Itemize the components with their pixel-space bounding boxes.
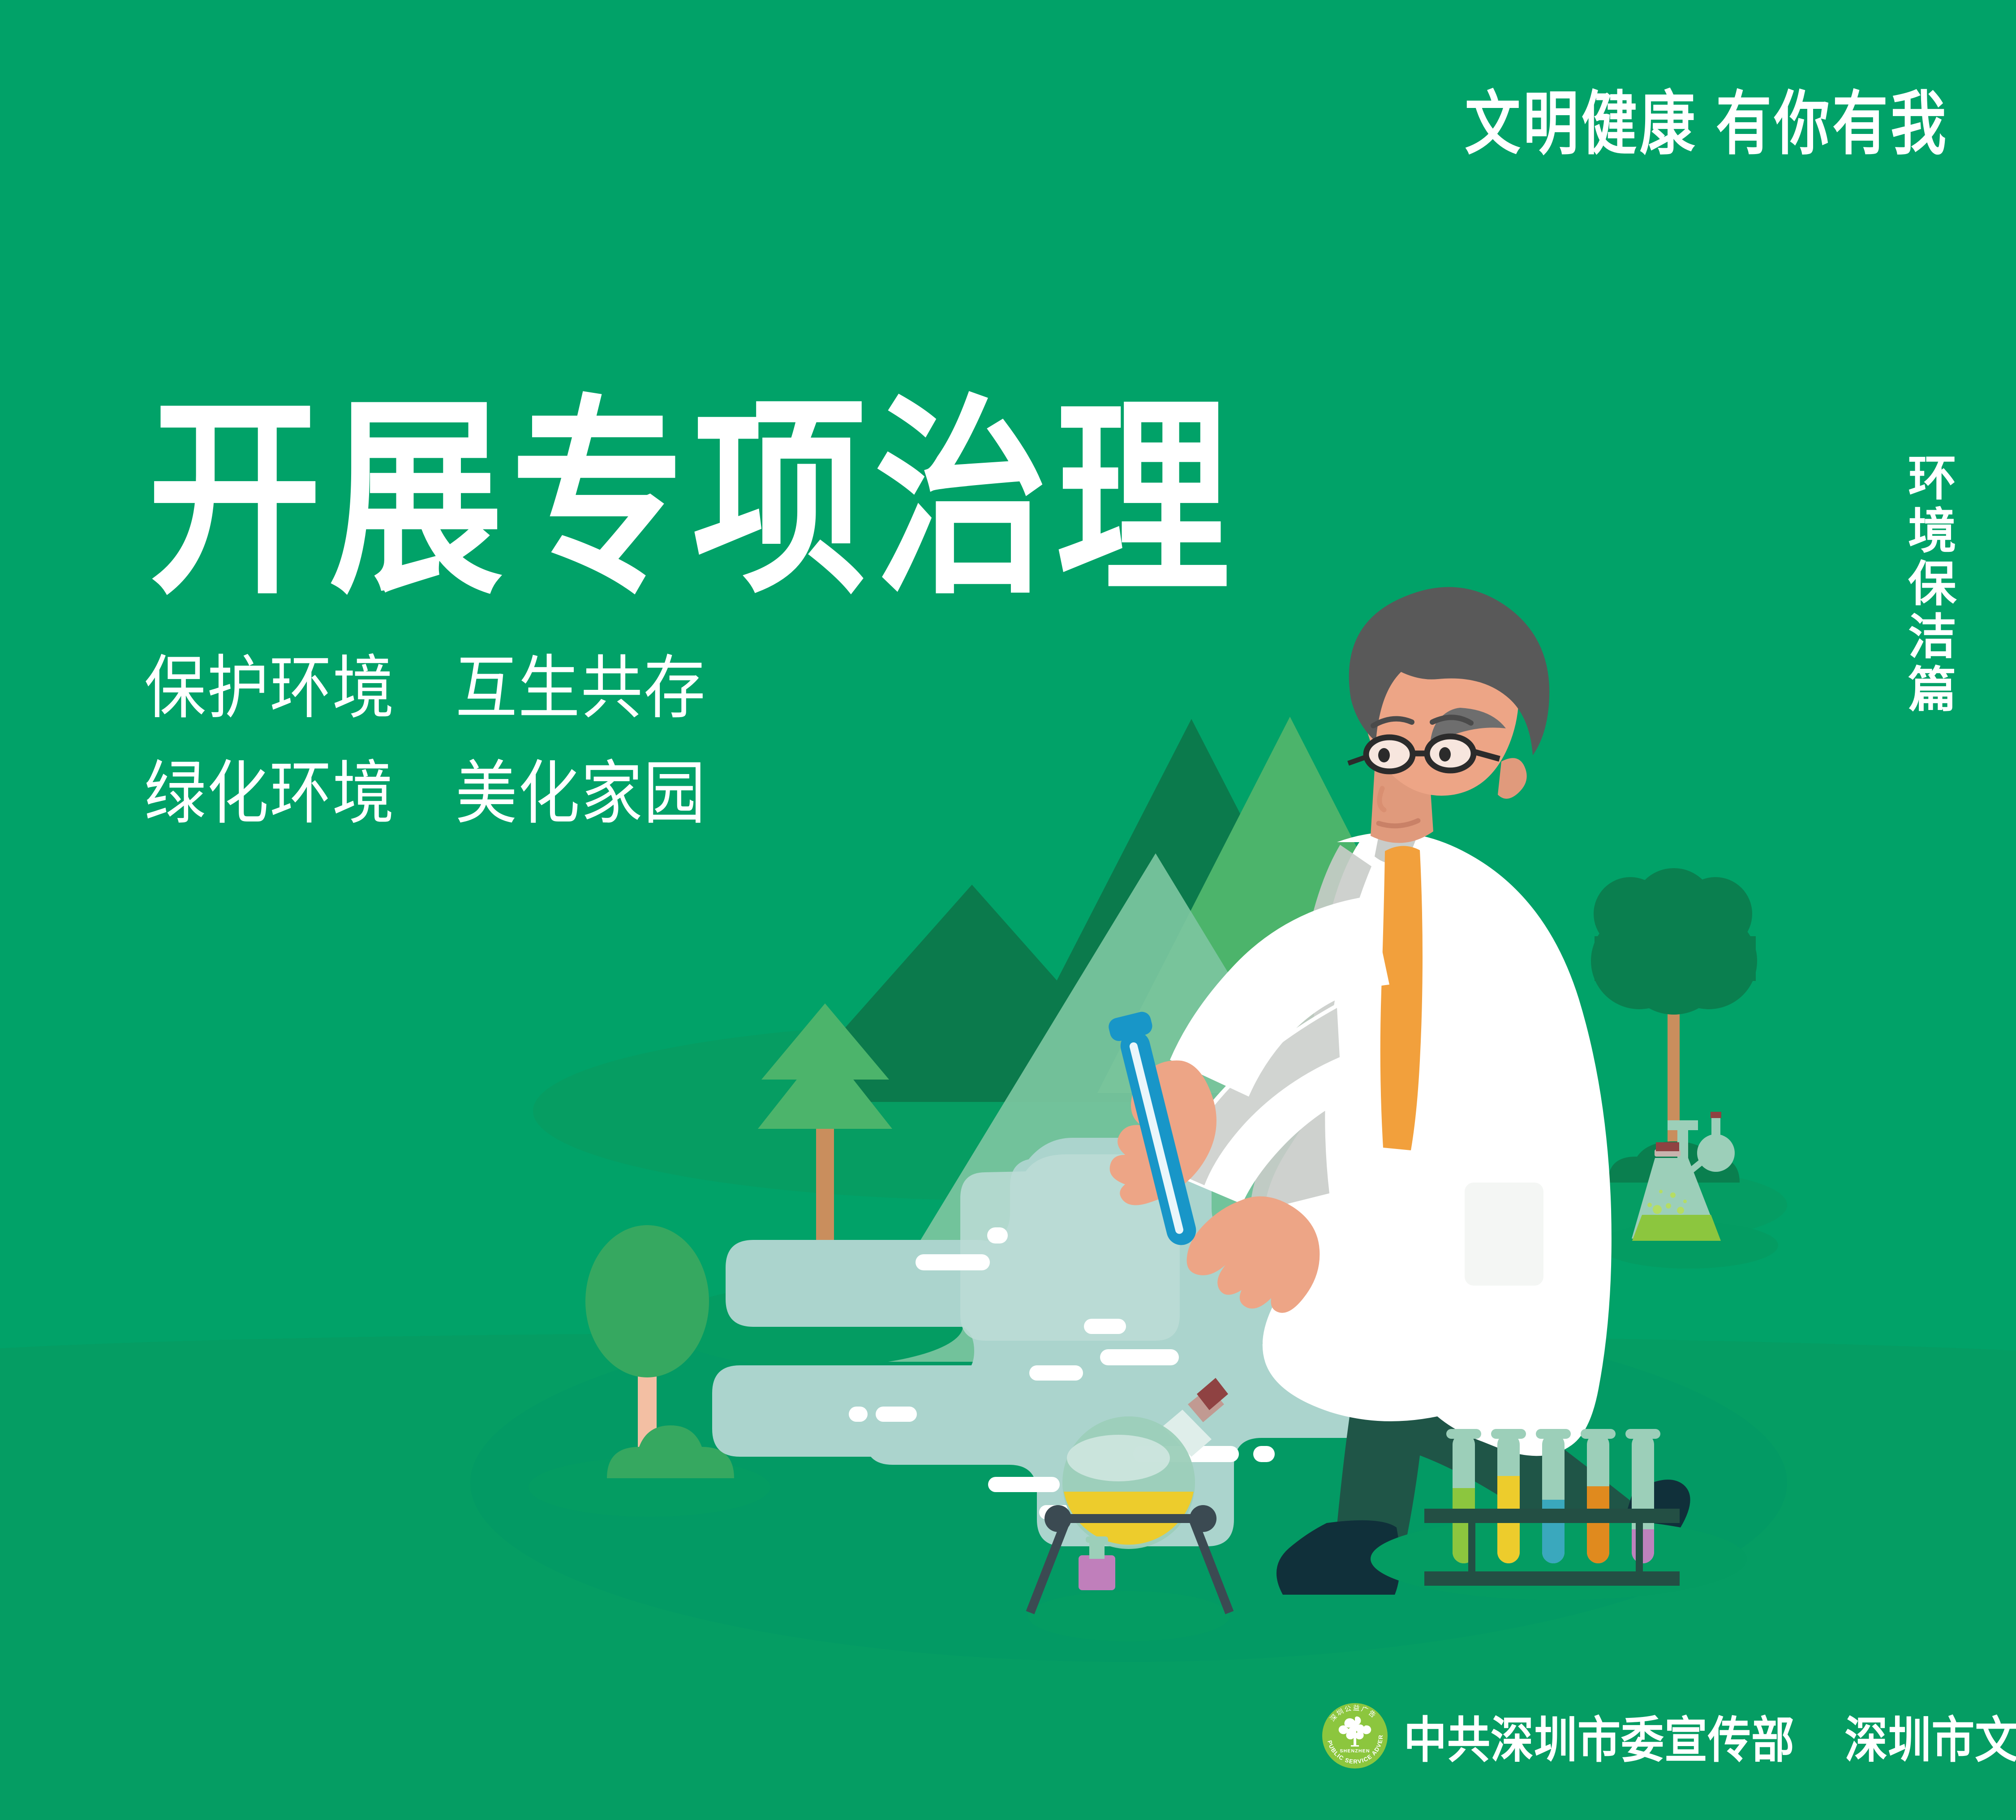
scientist-hair-highlight (1430, 708, 1506, 749)
flask-glass-highlight (1067, 1435, 1170, 1481)
cloud-tree-base-bush (1630, 1141, 1718, 1183)
illustration-scene (0, 0, 2016, 1820)
rack-top-bar (1424, 1509, 1680, 1523)
scientist-mouth (1379, 821, 1418, 826)
side-arm-neck (1711, 1115, 1720, 1143)
scientist-eyebrow-left (1373, 719, 1412, 726)
erlenmeyer-side-arm (1681, 1158, 1707, 1179)
flask-ground-shadow (1028, 1591, 1229, 1641)
scientist-figure (1107, 587, 1690, 1595)
rack-leg-right (1636, 1521, 1643, 1573)
cloud-tree-base-bush-left (1608, 1157, 1664, 1183)
rack-tubes (1446, 1429, 1660, 1563)
erlenmeyer-neck-collar (1655, 1149, 1681, 1157)
pine-tree-trunk (816, 1124, 834, 1326)
water-highlights (849, 1227, 1275, 1519)
round-tree-canopy (585, 1225, 709, 1377)
round-tree-ground-shadow (529, 1458, 770, 1517)
tripod-knob-left (1045, 1505, 1071, 1532)
rack-leg-left (1468, 1521, 1475, 1573)
mountain-dark-left (779, 885, 1165, 1102)
scientist-face (1361, 596, 1518, 796)
scientist-coat-lapel-shadow (1251, 845, 1371, 1213)
cloud-tree-base-bush-right (1684, 1157, 1740, 1183)
scientist-right-sleeve-shadow (1176, 1008, 1340, 1185)
hill-shadow-ellipse (533, 1021, 1483, 1200)
subtitle-line-1-a: 保护环境 (144, 650, 395, 727)
erlenmeyer-flask-apparatus (1599, 1112, 1778, 1269)
flask-bulb (1062, 1416, 1195, 1549)
rack-bottom-bar (1424, 1571, 1680, 1586)
erlenmeyer-liquid (1632, 1215, 1721, 1241)
scientist-right-sleeve (1170, 1003, 1370, 1204)
alcohol-burner (1079, 1536, 1115, 1590)
erlenmeyer-cork (1656, 1142, 1679, 1151)
scientist-right-hand (1187, 1196, 1320, 1313)
scientist-glasses (1348, 736, 1500, 771)
scientist-front-shoe (1277, 1520, 1400, 1595)
test-tube-lip (1107, 1010, 1154, 1043)
erlenmeyer-ground-shadow (1599, 1222, 1778, 1269)
scientist-ear (1498, 758, 1527, 799)
erlenmeyer-bubbles (1647, 1190, 1687, 1214)
scientist-eye-right (1439, 747, 1451, 762)
header-slogan: 文明健康 有你有我 (1465, 90, 1949, 159)
scientist-neck (1371, 756, 1433, 843)
side-arm-bulb (1697, 1134, 1735, 1172)
round-tree-base-bush (607, 1425, 734, 1478)
scientist-eyebrow-right (1432, 717, 1471, 723)
scientist-back-shoe (1619, 1480, 1690, 1570)
scientist-back-leg (1382, 1380, 1642, 1559)
scientist-tie (1380, 846, 1423, 1150)
mountain-dark-center (994, 719, 1388, 1102)
subtitle-line-1: 保护环境 互生共存 (144, 636, 706, 741)
background-fill (0, 0, 2016, 1820)
vertical-section-tag: 环境保洁篇 (1899, 452, 1957, 717)
scientist-collar (1375, 812, 1425, 863)
subtitle-line-2-a: 绿化环境 (144, 755, 395, 832)
water-spill (712, 1138, 1393, 1546)
pine-tree-top-tier (761, 1003, 889, 1080)
scientist-lab-coat (1263, 832, 1612, 1456)
scientist-coat-pocket (1465, 1183, 1543, 1286)
flask-neck (1162, 1378, 1228, 1457)
subtitle-line-2-b: 美化家园 (456, 755, 706, 832)
scientist-left-sleeve (1170, 896, 1389, 1097)
page-title: 开展专项治理 (148, 394, 1238, 606)
poster-canvas: 文明健康 有你有我 开展专项治理 保护环境 互生共存 绿化环境 美化家园 环境保… (0, 0, 2016, 1820)
mountain-light-right (1097, 717, 1483, 1093)
scientist-eye-left (1378, 748, 1390, 762)
tripod-knob-right (1190, 1505, 1216, 1532)
round-bottom-flask-apparatus (1028, 1378, 1229, 1641)
mountain-pale-front (847, 853, 1465, 1362)
cloud-tree-ground-shadow (1527, 1170, 1787, 1240)
subtitle-line-1-b: 互生共存 (456, 650, 706, 727)
scientist-front-leg (1304, 1214, 1439, 1544)
ground-ellipse (470, 1304, 1787, 1662)
cloud-tree-trunk (1668, 981, 1680, 1156)
test-tube-body (1118, 1028, 1199, 1248)
subtitle-line-2: 绿化环境 美化家园 (144, 741, 706, 847)
footer-credit-b: 深圳市文明办 (1844, 1713, 2016, 1768)
flask-liquid (1064, 1492, 1194, 1545)
footer-credit-a: 中共深圳市委宣传部 (1404, 1713, 1795, 1768)
test-tube-rack (1371, 1429, 1747, 1600)
test-tube-highlight (1129, 1041, 1184, 1235)
shenzhen-public-service-advertising-logo: 深圳公益广告 PUBLIC SERVICE ADVERTISING SHENZH… (1321, 1702, 1388, 1769)
subtitle-block: 保护环境 互生共存 绿化环境 美化家园 (144, 636, 706, 847)
footer-credit: 中共深圳市委宣传部 深圳市文明办 (1404, 1700, 2016, 1772)
logo-city-name: SHENZHEN (1340, 1748, 1370, 1754)
scientist-left-hand (1110, 1060, 1216, 1205)
pine-tree-bottom-tier (758, 1044, 892, 1129)
held-test-tube (1107, 1010, 1206, 1250)
pine-tree-ground-shadow (667, 1285, 963, 1367)
side-arm-cork (1711, 1112, 1721, 1118)
tripod-stand (1030, 1519, 1229, 1613)
erlenmeyer-body (1632, 1120, 1719, 1239)
scientist-nose (1380, 788, 1384, 810)
rack-ground-shadow (1371, 1518, 1747, 1600)
round-tree-trunk (638, 1346, 657, 1474)
scientist-hair (1349, 587, 1549, 755)
cloud-tree-canopy (1591, 868, 1757, 1015)
footer: 深圳公益广告 PUBLIC SERVICE ADVERTISING SHENZH… (1321, 1702, 2016, 1769)
